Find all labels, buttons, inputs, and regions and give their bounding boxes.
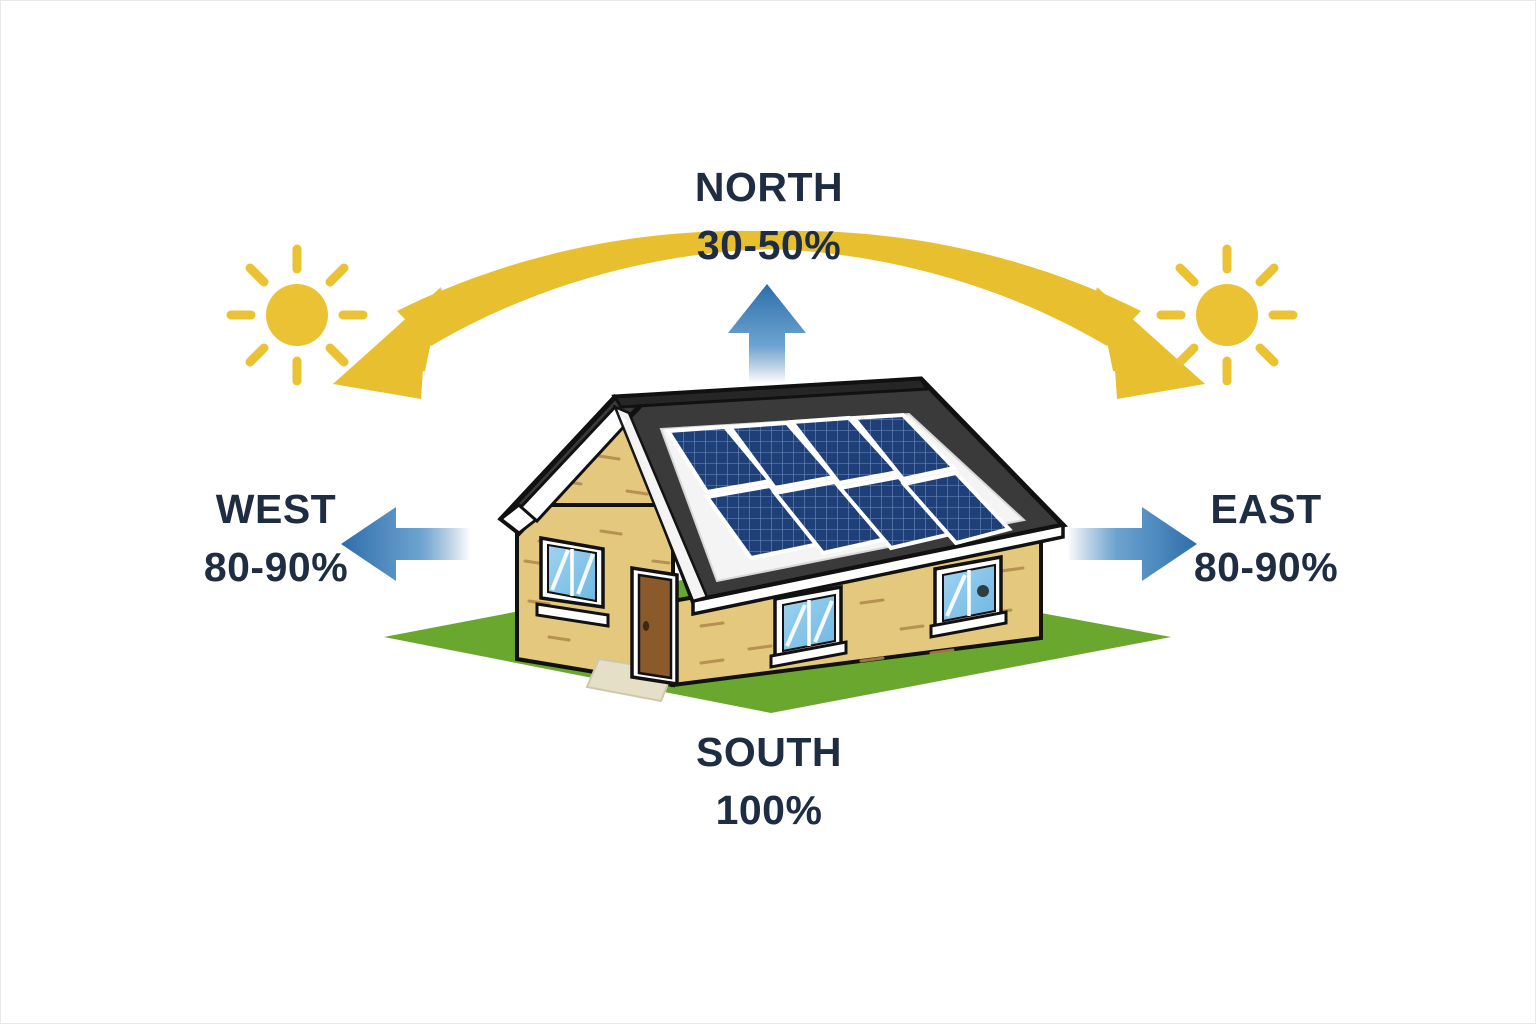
window <box>537 538 608 626</box>
direction-label-south: SOUTH 100% <box>639 731 899 833</box>
door <box>632 568 677 684</box>
north-name: NORTH <box>639 166 899 209</box>
house-with-solar-panels-illustration <box>384 379 1171 713</box>
west-name: WEST <box>151 488 401 531</box>
south-value: 100% <box>639 789 899 832</box>
north-value: 30-50% <box>639 224 899 267</box>
window <box>931 557 1006 637</box>
direction-label-east: EAST 80-90% <box>1141 488 1391 590</box>
window <box>771 587 846 667</box>
west-value: 80-90% <box>151 546 401 589</box>
south-name: SOUTH <box>639 731 899 774</box>
door-knob <box>643 621 649 631</box>
diagram-canvas: NORTH 30-50% WEST 80-90% EAST 80-90% SOU… <box>0 0 1536 1024</box>
direction-label-west: WEST 80-90% <box>151 488 401 590</box>
east-name: EAST <box>1141 488 1391 531</box>
arrow-up-icon <box>728 284 806 383</box>
east-value: 80-90% <box>1141 546 1391 589</box>
sun-icon <box>1161 249 1293 381</box>
direction-label-north: NORTH 30-50% <box>639 166 899 268</box>
sun-icon <box>231 249 363 381</box>
